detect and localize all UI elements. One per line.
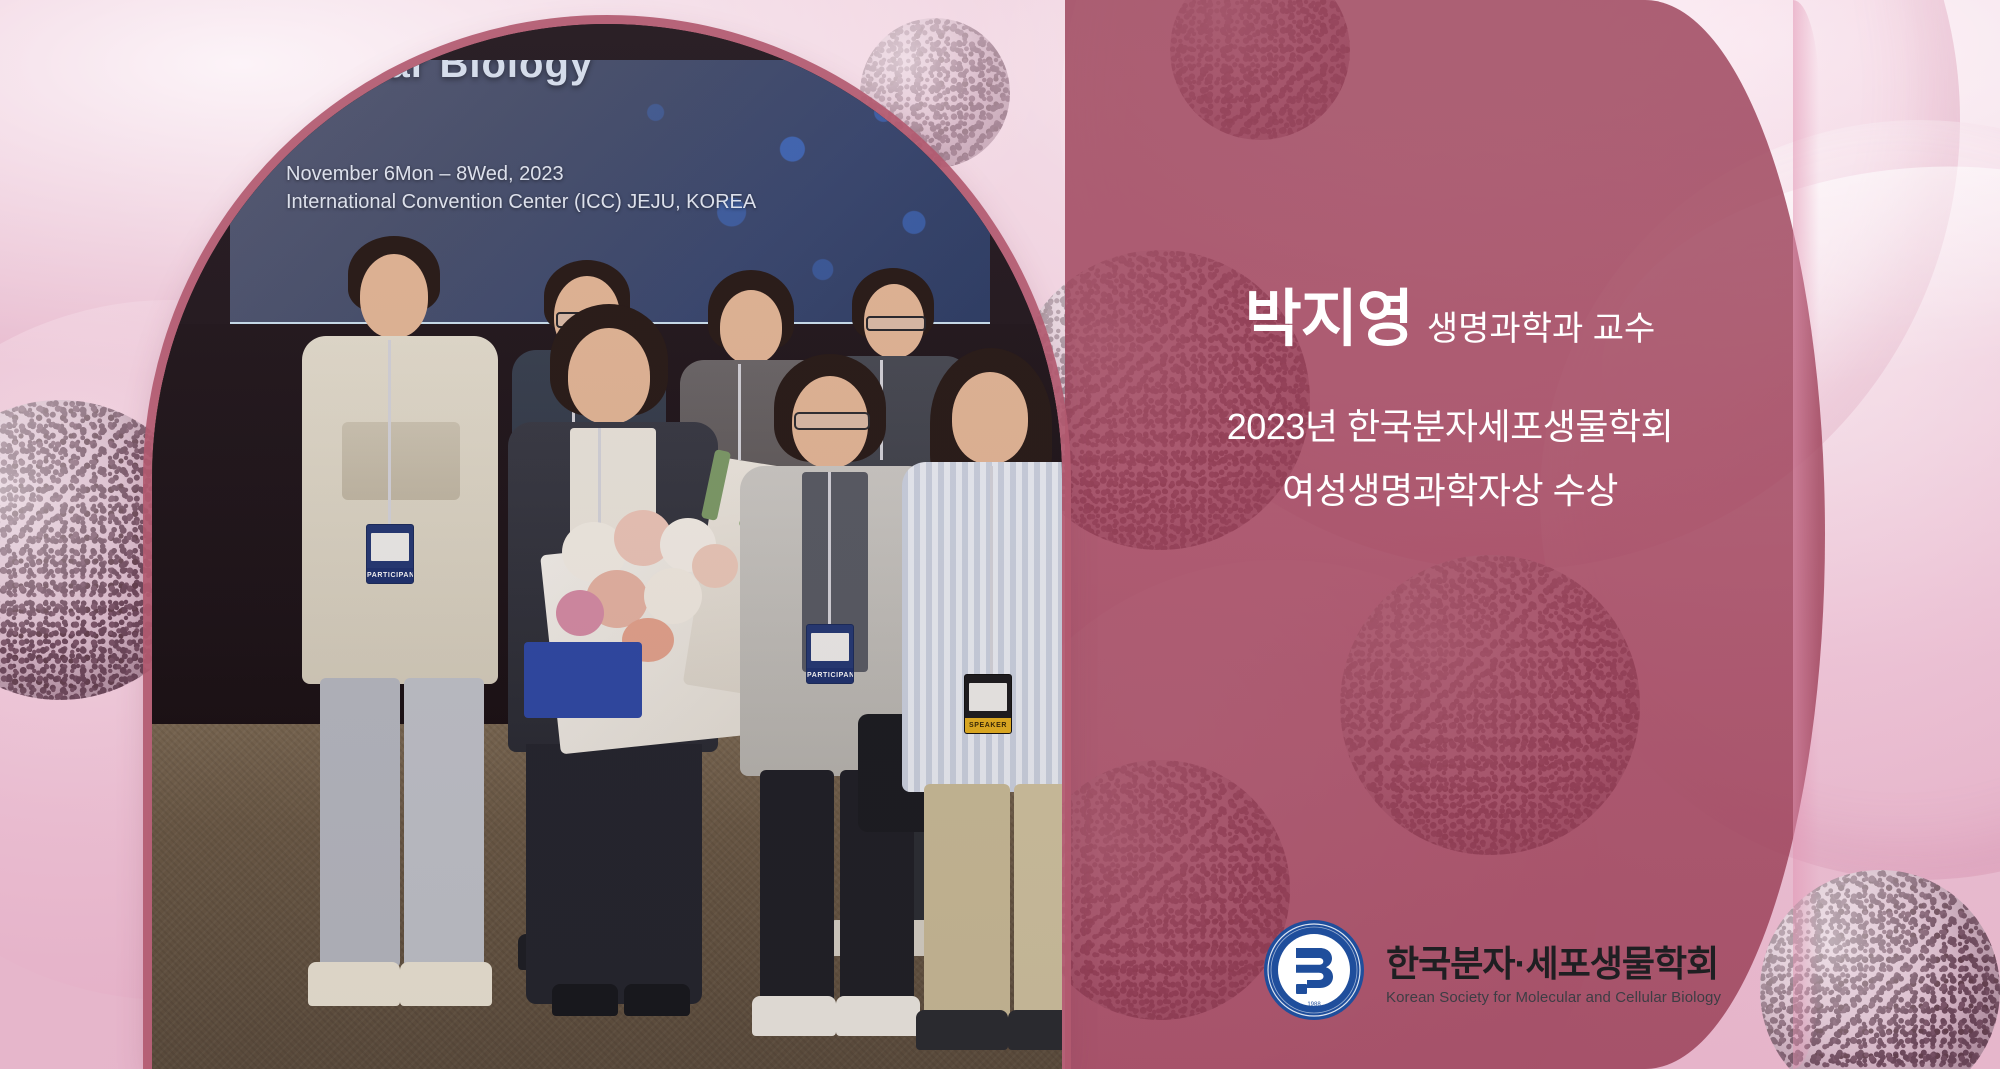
award-card: ular Biology November 6Mon – 8Wed, 2023 …: [0, 0, 2000, 1069]
name-row: 박지영생명과학과 교수: [1100, 268, 1800, 358]
society-logo: 1988 한국분자·세포생물학회 Korean Society for Mole…: [1262, 918, 1721, 1022]
award-subtitle-line2: 여성생명과학자상 수상: [1100, 462, 1800, 514]
award-subtitle-line1: 2023년 한국분자세포생물학회: [1100, 398, 1800, 450]
awardee-role: 생명과학과 교수: [1427, 310, 1655, 348]
society-name-en: Korean Society for Molecular and Cellula…: [1386, 989, 1721, 1006]
society-name-ko: 한국분자·세포생물학회: [1386, 935, 1721, 987]
awardee-name: 박지영: [1245, 285, 1413, 354]
ksmcb-seal-icon: 1988: [1262, 918, 1366, 1022]
society-logo-text: 한국분자·세포생물학회 Korean Society for Molecular…: [1386, 935, 1721, 1006]
photo-tint: [152, 24, 1062, 1069]
headline-block: 박지영생명과학과 교수 2023년 한국분자세포생물학회 여성생명과학자상 수상: [1100, 0, 1800, 1069]
group-photo: ular Biology November 6Mon – 8Wed, 2023 …: [152, 24, 1062, 1069]
svg-text:1988: 1988: [1307, 1002, 1321, 1008]
